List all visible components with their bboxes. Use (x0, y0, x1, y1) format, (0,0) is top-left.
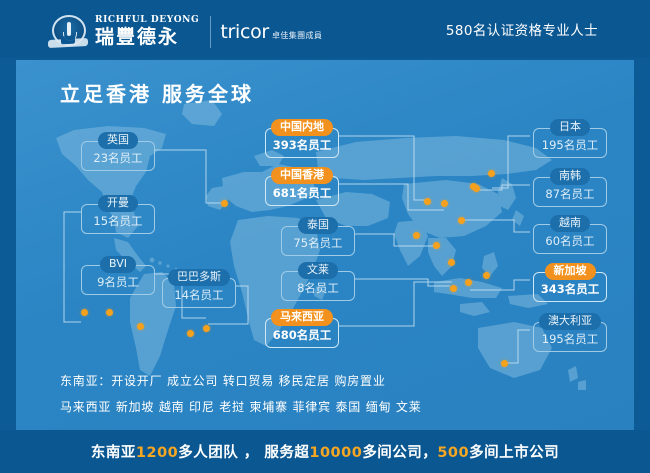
map-marker-dot (448, 259, 455, 266)
location-card: 巴巴多斯14名员工 (162, 269, 236, 308)
map-marker-dot (501, 360, 508, 367)
map-marker-dot (433, 242, 440, 249)
brand-english: RICHFUL DEYONG (95, 15, 199, 26)
map-marker-dot (137, 323, 144, 330)
map-marker-dot (424, 198, 431, 205)
map-marker-dot (106, 309, 113, 316)
map-marker-dot (221, 200, 228, 207)
map-marker-dot (413, 232, 420, 239)
footer-seg-4: 多间上市公司 (469, 445, 559, 461)
map-marker-dot (187, 330, 194, 337)
page-title: 立足香港 服务全球 (60, 78, 254, 107)
location-card: 泰国75名员工 (281, 217, 355, 256)
location-card: 越南60名员工 (533, 215, 607, 254)
location-name: 巴巴多斯 (168, 269, 230, 286)
location-name: 南韩 (550, 168, 590, 185)
location-card: 中国内地393名员工 (265, 119, 339, 158)
brand-chinese: 瑞豐德永 (95, 27, 199, 48)
location-name: 澳大利亚 (539, 313, 601, 330)
location-card: BVI9名员工 (81, 256, 155, 295)
page-header: RICHFUL DEYONG 瑞豐德永 tricor 卓佳集團成員 580名认证… (0, 0, 650, 58)
location-name: 开曼 (98, 195, 138, 212)
location-card: 日本195名员工 (533, 119, 607, 158)
location-card: 马来西亚680名员工 (265, 309, 339, 348)
location-name: BVI (100, 256, 136, 273)
location-card: 新加坡343名员工 (533, 263, 607, 302)
location-card: 澳大利亚195名员工 (533, 313, 607, 352)
company-logo: RICHFUL DEYONG 瑞豐德永 tricor 卓佳集團成員 (48, 15, 322, 48)
map-marker-dot (465, 279, 472, 286)
map-marker-dot (488, 170, 495, 177)
partner-english: tricor (220, 22, 269, 42)
blurb-line-2: 马来西亚 新加坡 越南 印尼 老挝 柬埔寨 菲律宾 泰国 缅甸 文莱 (60, 398, 422, 415)
map-marker-dot (450, 285, 457, 292)
map-marker-dot (470, 183, 477, 190)
map-marker-dot (441, 200, 448, 207)
location-name: 文莱 (298, 262, 338, 279)
partner-chinese: 卓佳集團成員 (272, 29, 322, 42)
location-card: 英国23名员工 (81, 132, 155, 171)
location-name: 日本 (550, 119, 590, 136)
crest-icon (48, 15, 88, 48)
footer-seg-2: 多人团队 ， 服务超 (178, 445, 309, 461)
blurb-line-1: 东南亚：开设开厂 成立公司 转口贸易 移民定居 购房置业 (60, 372, 386, 389)
location-card: 开曼15名员工 (81, 195, 155, 234)
location-card: 文莱8名员工 (281, 262, 355, 301)
location-name: 中国香港 (271, 167, 333, 184)
map-panel: 立足香港 服务全球 (16, 60, 634, 430)
location-name: 英国 (98, 132, 138, 149)
footer-number-team: 1200 (136, 445, 178, 461)
footer-number-companies: 10000 (309, 445, 362, 461)
location-card: 南韩87名员工 (533, 168, 607, 207)
footer-summary: 东南亚1200多人团队 ， 服务超10000多间公司，500多间上市公司 (91, 441, 559, 462)
partner-logo: tricor 卓佳集團成員 (220, 22, 322, 42)
header-tagline: 580名认证资格专业人士 (446, 0, 598, 58)
brand-text: RICHFUL DEYONG 瑞豐德永 (95, 15, 199, 48)
map-marker-dot (483, 272, 490, 279)
location-name: 马来西亚 (271, 309, 333, 326)
location-name: 泰国 (298, 217, 338, 234)
footer-seg-1: 东南亚 (91, 445, 136, 461)
location-name: 中国内地 (271, 119, 333, 136)
footer-number-listed: 500 (437, 445, 469, 461)
logo-divider (210, 16, 211, 48)
map-marker-dot (458, 217, 465, 224)
map-marker-dot (203, 325, 210, 332)
location-name: 越南 (550, 215, 590, 232)
map-marker-dot (81, 309, 88, 316)
infographic-poster: RICHFUL DEYONG 瑞豐德永 tricor 卓佳集團成員 580名认证… (0, 0, 650, 473)
footer-seg-3: 多间公司， (362, 445, 437, 461)
location-name: 新加坡 (545, 263, 596, 280)
location-card: 中国香港681名员工 (265, 167, 339, 206)
page-footer: 东南亚1200多人团队 ， 服务超10000多间公司，500多间上市公司 (0, 430, 650, 473)
